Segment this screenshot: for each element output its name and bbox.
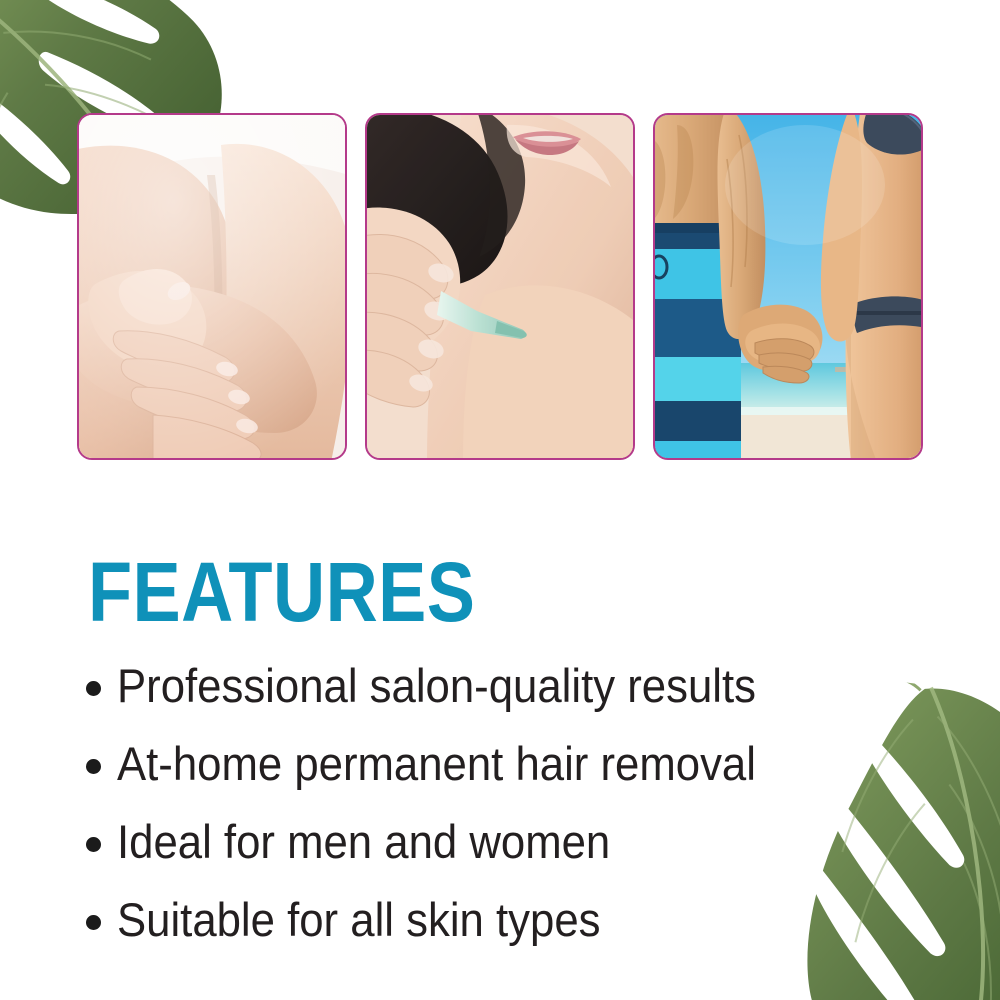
list-item: Ideal for men and women [86,816,926,866]
bullet-icon [86,915,101,930]
list-item: Suitable for all skin types [86,894,926,944]
infographic-canvas: FEATURES Professional salon-quality resu… [0,0,1000,1000]
woman-touching-smooth-arm [79,115,345,458]
feature-label: At-home permanent hair removal [117,738,756,790]
couple-holding-hands-on-beach [655,115,921,458]
bullet-icon [86,837,101,852]
bullet-icon [86,759,101,774]
feature-label: Professional salon-quality results [117,660,756,712]
woman-applying-hair-removal-applicator [367,115,633,458]
list-item: Professional salon-quality results [86,660,926,710]
photo-card-applicator [365,113,635,460]
photo-card-beach-couple [653,113,923,460]
list-item: At-home permanent hair removal [86,738,926,788]
feature-list: Professional salon-quality results At-ho… [86,660,926,944]
feature-label: Ideal for men and women [117,816,610,868]
page-title: FEATURES [88,550,475,634]
bullet-icon [86,681,101,696]
photo-strip [77,113,923,460]
photo-card-smooth-arm [77,113,347,460]
feature-label: Suitable for all skin types [117,894,600,946]
